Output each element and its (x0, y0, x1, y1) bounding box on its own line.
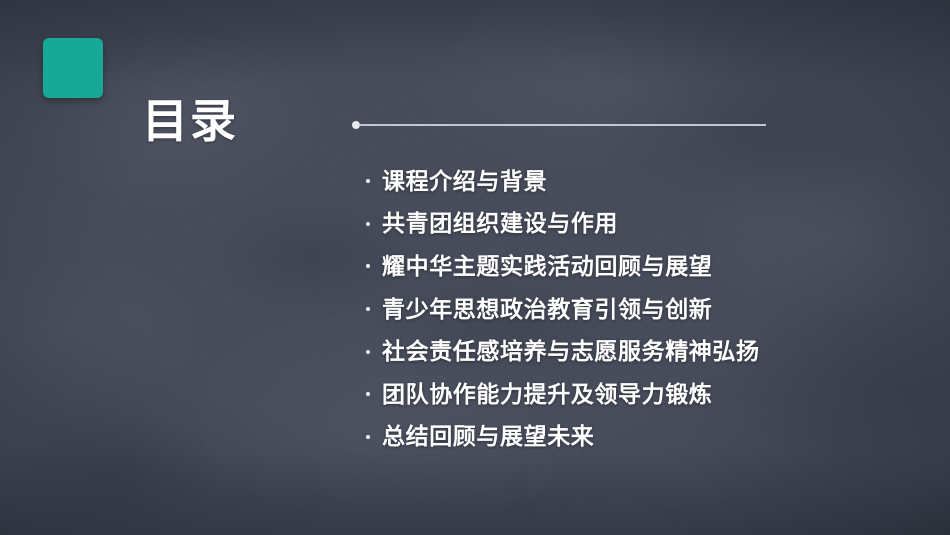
connector-rule-line (359, 124, 766, 126)
presentation-slide: 目录 课程介绍与背景 共青团组织建设与作用 耀中华主题实践活动回顾与展望 青少年… (0, 0, 950, 535)
table-of-contents-list: 课程介绍与背景 共青团组织建设与作用 耀中华主题实践活动回顾与展望 青少年思想政… (366, 160, 836, 458)
list-item[interactable]: 课程介绍与背景 (366, 160, 836, 203)
list-item[interactable]: 耀中华主题实践活动回顾与展望 (366, 245, 836, 288)
bullet-icon (366, 222, 370, 226)
bullet-icon (366, 350, 370, 354)
bullet-icon (366, 264, 370, 268)
list-item-label: 耀中华主题实践活动回顾与展望 (382, 255, 712, 278)
list-item-label: 社会责任感培养与志愿服务精神弘扬 (382, 340, 760, 363)
bullet-icon (366, 435, 370, 439)
page-title: 目录 (142, 98, 238, 144)
title-connector (352, 121, 766, 129)
bullet-icon (366, 179, 370, 183)
list-item-label: 总结回顾与展望未来 (382, 425, 594, 448)
list-item-label: 青少年思想政治教育引领与创新 (382, 298, 712, 321)
list-item-label: 共青团组织建设与作用 (382, 212, 618, 235)
list-item[interactable]: 团队协作能力提升及领导力锻炼 (366, 373, 836, 416)
list-item[interactable]: 青少年思想政治教育引领与创新 (366, 288, 836, 331)
list-item-label: 课程介绍与背景 (382, 170, 547, 193)
bullet-icon (366, 307, 370, 311)
green-square-icon (43, 38, 103, 98)
list-item[interactable]: 社会责任感培养与志愿服务精神弘扬 (366, 330, 836, 373)
bullet-icon (366, 392, 370, 396)
list-item[interactable]: 共青团组织建设与作用 (366, 203, 836, 246)
list-item[interactable]: 总结回顾与展望未来 (366, 416, 836, 459)
list-item-label: 团队协作能力提升及领导力锻炼 (382, 383, 712, 406)
